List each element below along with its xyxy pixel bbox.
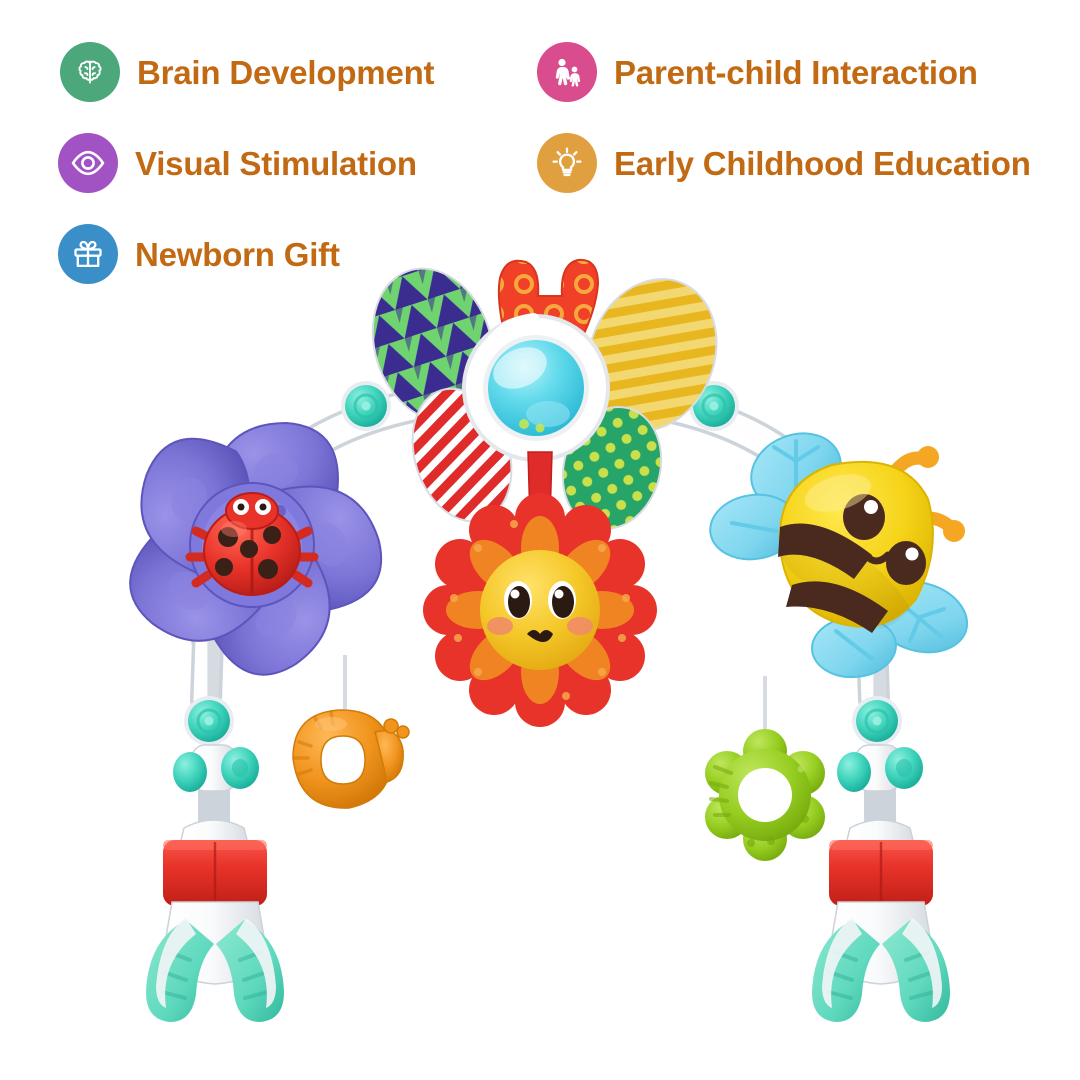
left-clamp (146, 820, 284, 1022)
feature-visual-stimulation: Visual Stimulation (58, 133, 417, 193)
brain-icon (60, 42, 120, 102)
feature-label: Visual Stimulation (135, 147, 417, 180)
left-pivot-joint (173, 745, 259, 792)
feature-label: Early Childhood Education (614, 147, 1031, 180)
feature-label: Brain Development (137, 56, 434, 89)
feature-brain-development: Brain Development (60, 42, 434, 102)
snail-teether-ring (293, 710, 409, 808)
feature-parent-child-interaction: Parent-child Interaction (537, 42, 978, 102)
feature-label: Parent-child Interaction (614, 56, 978, 89)
bee-rattle (706, 420, 976, 679)
parent-child-icon (537, 42, 597, 102)
sunflower-cheek (567, 617, 593, 635)
arch-connector (184, 696, 234, 746)
sunflower-face (480, 550, 600, 670)
feature-label: Newborn Gift (135, 238, 340, 271)
feature-badge-list: Brain Development Parent-child Interacti… (0, 0, 1080, 320)
purple-flower-spinner (111, 423, 395, 694)
arch-connector (852, 696, 902, 746)
feature-early-childhood-education: Early Childhood Education (537, 133, 1031, 193)
eye-icon (58, 133, 118, 193)
arch-connector (341, 381, 391, 431)
lightbulb-icon (537, 133, 597, 193)
gift-icon (58, 224, 118, 284)
sunflower-cheek (487, 617, 513, 635)
flower-teether-ring (705, 729, 825, 861)
right-pivot-joint (837, 745, 923, 792)
feature-newborn-gift: Newborn Gift (58, 224, 340, 284)
right-clamp (812, 820, 950, 1022)
